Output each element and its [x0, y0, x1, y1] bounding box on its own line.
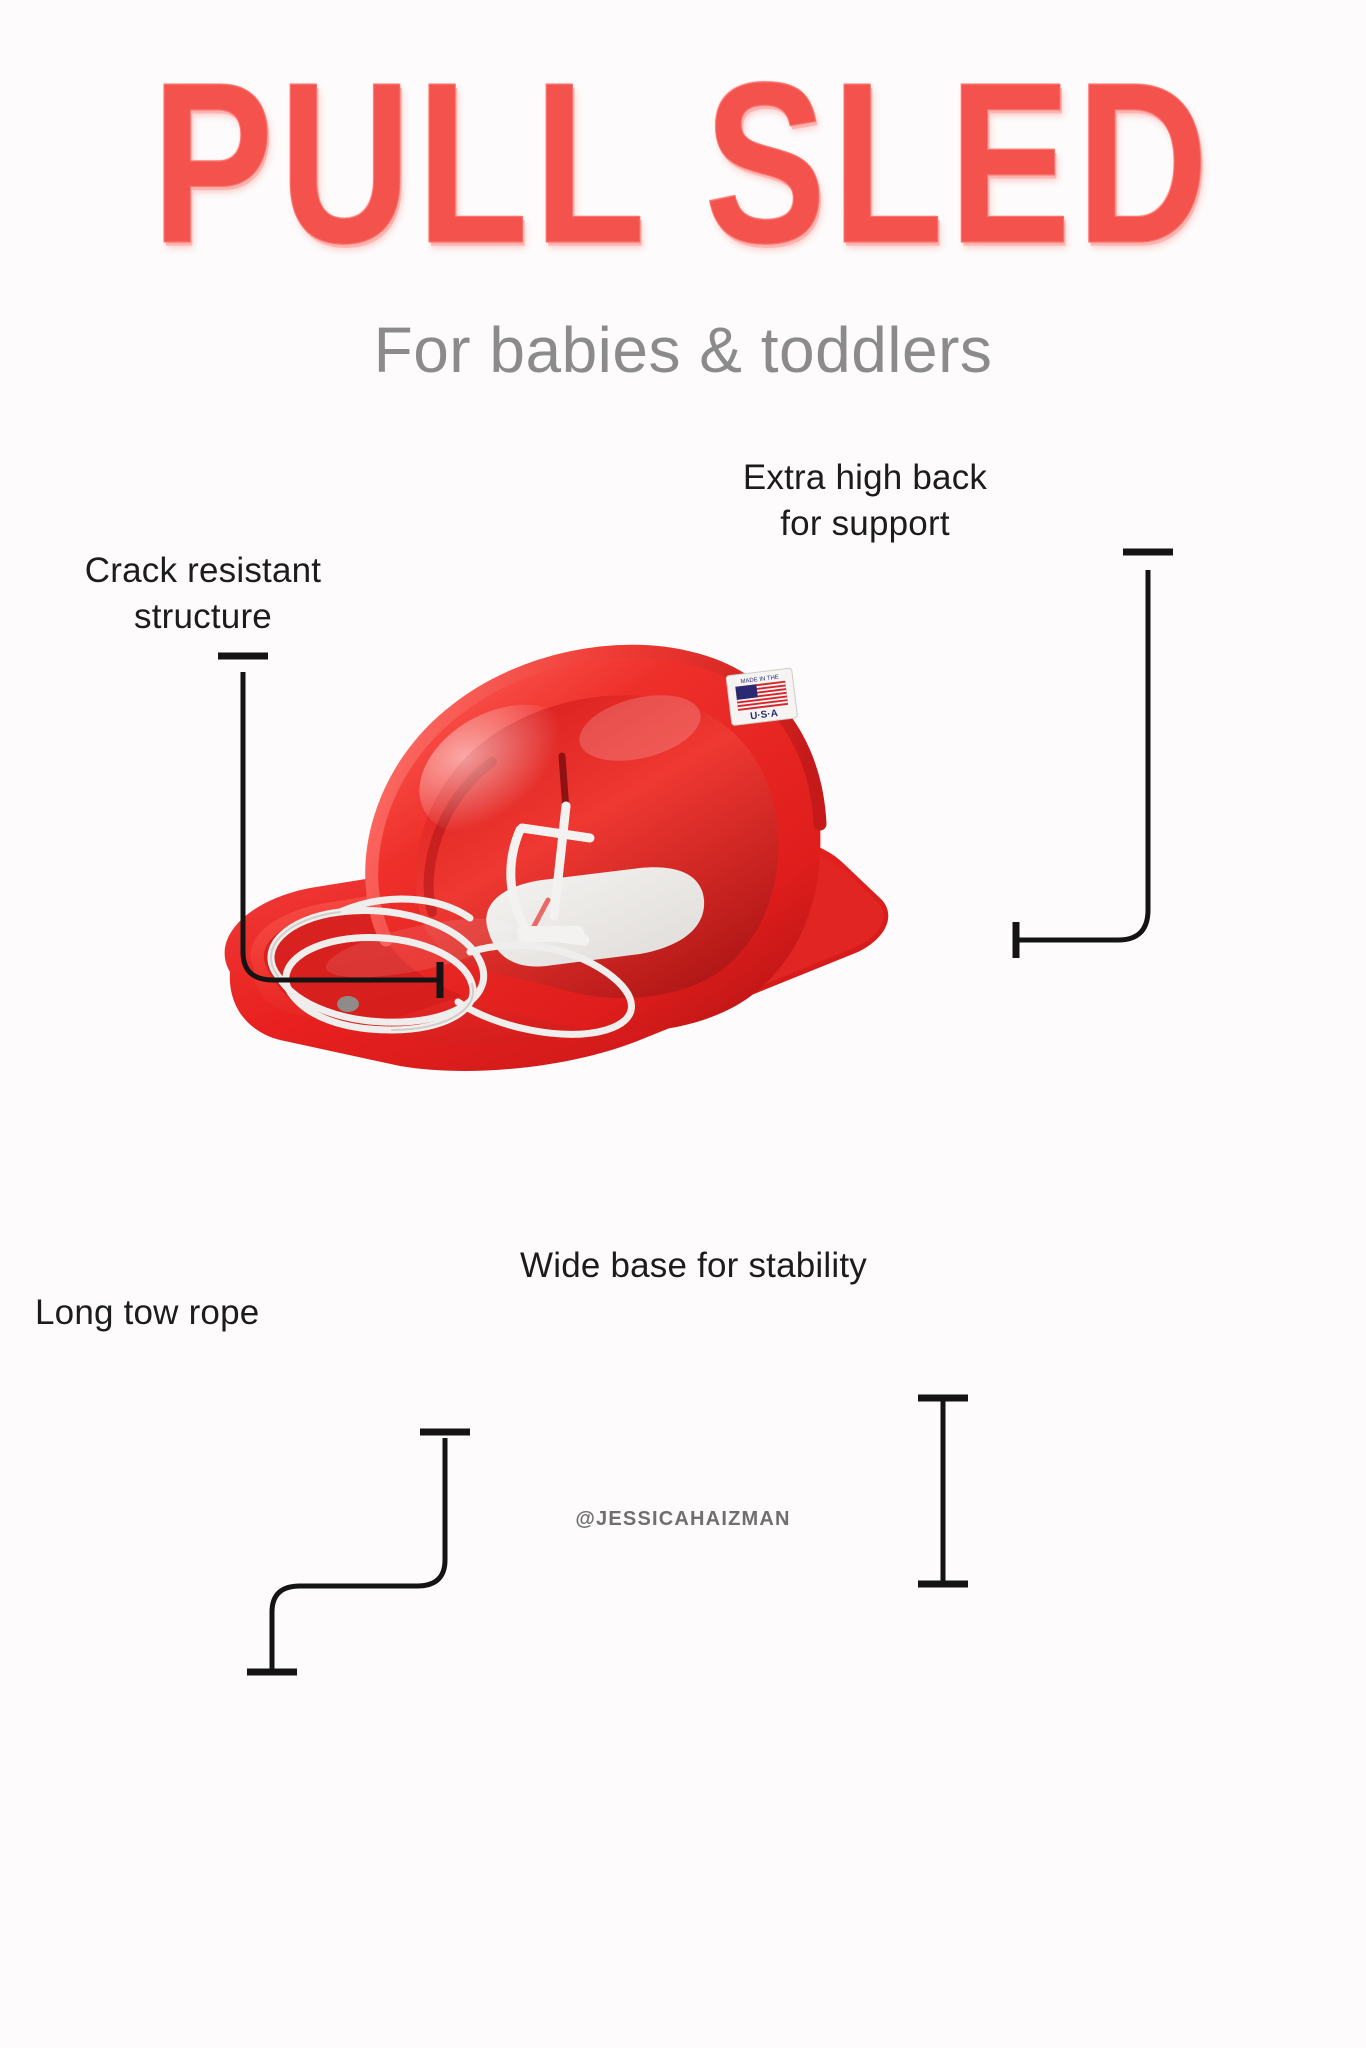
infographic-page: PULL SLED For babies & toddlers — [0, 0, 1366, 2048]
annotation-long-tow-rope: Long tow rope — [35, 1290, 365, 1336]
made-in-usa-sticker: MADE IN THE U·S·A — [726, 668, 798, 726]
product-image: MADE IN THE U·S·A — [170, 600, 930, 1100]
annotation-crack-resistant: Crack resistant structure — [28, 548, 378, 640]
leader-extra-high-back — [1016, 570, 1148, 940]
page-title: PULL SLED — [20, 48, 1345, 277]
annotation-extra-high-back: Extra high back for support — [700, 455, 1030, 547]
rope-grommet — [337, 996, 359, 1012]
sled-illustration: MADE IN THE U·S·A — [170, 600, 930, 1100]
annotation-wide-base: Wide base for stability — [520, 1243, 970, 1289]
leader-long-tow-rope — [272, 1438, 445, 1670]
footer-handle: @JESSICAHAIZMAN — [0, 1508, 1366, 1531]
page-subtitle: For babies & toddlers — [0, 318, 1366, 382]
